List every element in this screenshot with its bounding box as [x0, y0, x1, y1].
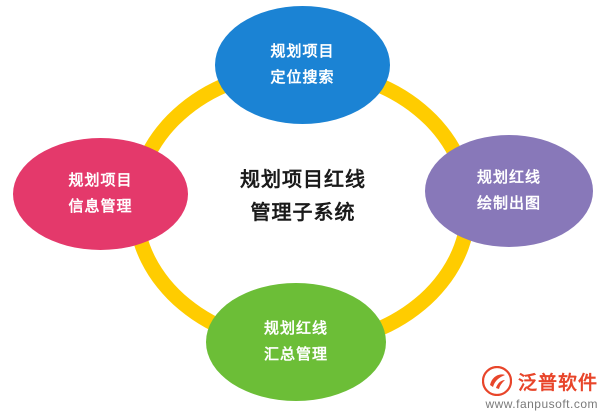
node-left-line1: 规划项目 [68, 168, 132, 194]
node-left-project-information-management[interactable]: 规划项目 信息管理 [13, 138, 188, 250]
diagram-canvas: 规划项目红线 管理子系统 规划项目 定位搜索 规划红线 绘制出图 规划红线 汇总… [0, 0, 606, 417]
fanpu-logo-icon [482, 366, 512, 396]
brand-url: www.fanpusoft.com [485, 397, 598, 411]
node-bottom-line2: 汇总管理 [264, 342, 328, 368]
node-bottom-line1: 规划红线 [264, 316, 328, 342]
node-top-planning-project-location-search[interactable]: 规划项目 定位搜索 [215, 6, 390, 124]
node-top-line2: 定位搜索 [270, 65, 334, 91]
node-bottom-redline-summary-management[interactable]: 规划红线 汇总管理 [206, 283, 386, 401]
node-top-line1: 规划项目 [270, 39, 334, 65]
node-right-line2: 绘制出图 [477, 191, 541, 217]
brand-name: 泛普软件 [518, 368, 598, 395]
node-left-line2: 信息管理 [68, 194, 132, 220]
node-right-line1: 规划红线 [477, 165, 541, 191]
center-title-line1: 规划项目红线 [203, 164, 403, 197]
node-right-redline-drawing-output[interactable]: 规划红线 绘制出图 [425, 135, 593, 247]
watermark-logo: 泛普软件 www.fanpusoft.com [482, 366, 598, 411]
center-title: 规划项目红线 管理子系统 [203, 164, 403, 230]
center-title-line2: 管理子系统 [203, 197, 403, 230]
